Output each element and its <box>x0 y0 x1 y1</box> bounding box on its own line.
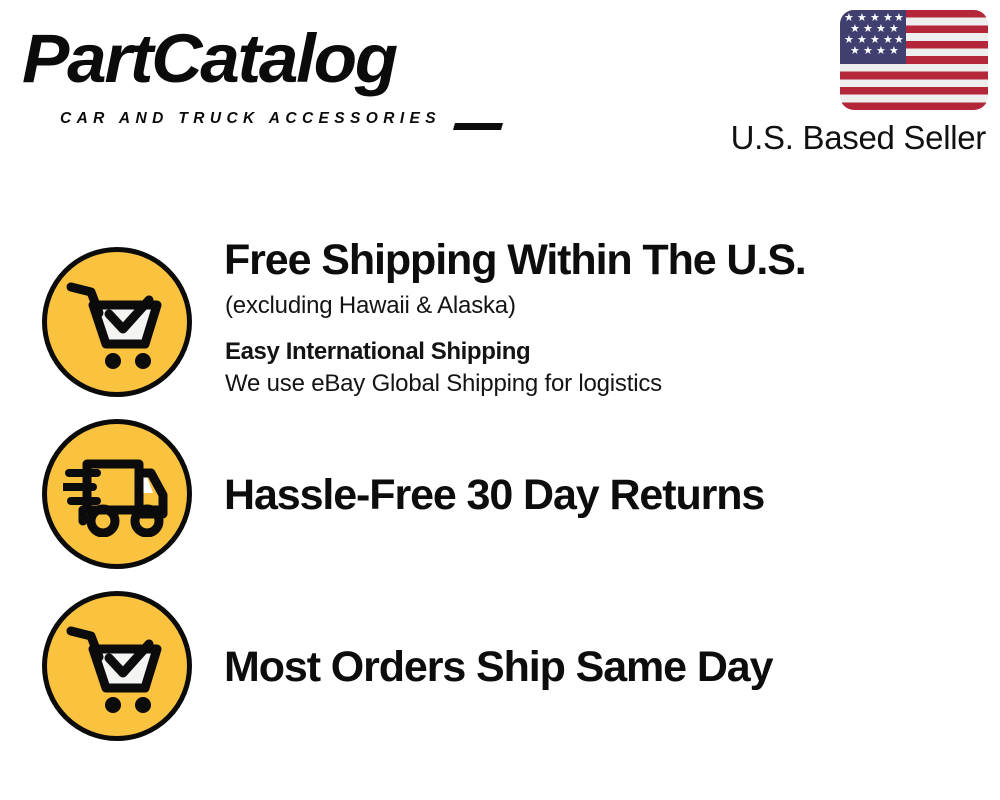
shopping-cart-check-icon <box>42 591 192 741</box>
feature-title: Free Shipping Within The U.S. <box>224 236 806 285</box>
feature-subtitle: (excluding Hawaii & Alaska) <box>225 290 516 322</box>
feature-title: Most Orders Ship Same Day <box>224 643 772 692</box>
feature-subtitle-detail: We use eBay Global Shipping for logistic… <box>225 368 662 400</box>
feature-title: Hassle-Free 30 Day Returns <box>224 471 764 520</box>
promo-banner: PartCatalog CAR AND TRUCK ACCESSORIES ★ … <box>0 0 1000 800</box>
delivery-truck-icon <box>42 419 192 569</box>
shopping-cart-check-icon <box>42 247 192 397</box>
feature-list: Free Shipping Within The U.S. (excluding… <box>0 0 1000 800</box>
feature-subtitle-bold: Easy International Shipping <box>225 336 530 368</box>
